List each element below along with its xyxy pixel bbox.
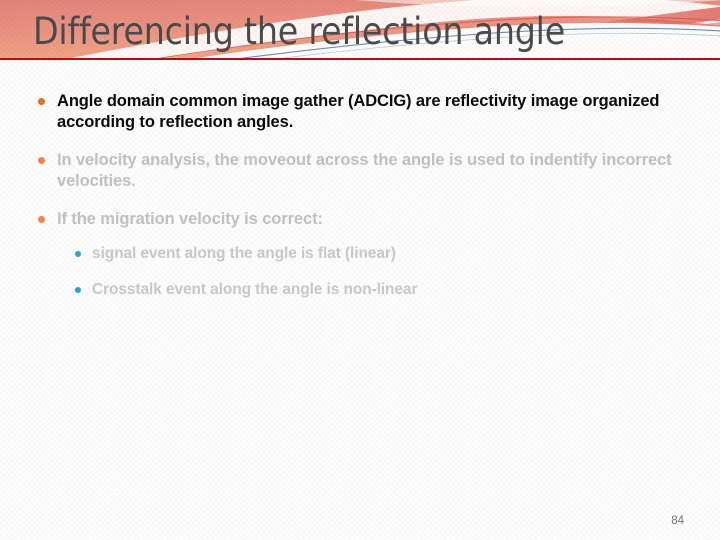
bullet-item-2: In velocity analysis, the moveout across… [0,150,720,191]
teal-dot-icon [75,287,81,293]
title-underline-rule [0,58,720,60]
orange-dot-icon [38,98,45,105]
bullet-item-1-label: Angle domain common image gather (ADCIG)… [57,91,680,132]
teal-dot-icon [75,251,81,257]
slide-page-number: 84 [671,515,684,527]
sub-bullet-item-2: Crosstalk event along the angle is non-l… [0,280,720,300]
bullet-item-3: If the migration velocity is correct: [0,209,720,230]
sub-bullet-item-2-label: Crosstalk event along the angle is non-l… [92,280,417,300]
presentation-slide: Differencing the reflection angle Angle … [0,0,720,540]
orange-dot-icon [38,157,45,164]
sub-bullet-item-1-label: signal event along the angle is flat (li… [92,244,396,264]
slide-body: Angle domain common image gather (ADCIG)… [0,75,720,300]
sub-bullet-item-1: signal event along the angle is flat (li… [0,244,720,264]
bullet-item-3-label: If the migration velocity is correct: [57,209,323,230]
bullet-item-1: Angle domain common image gather (ADCIG)… [0,91,720,132]
slide-title: Differencing the reflection angle [33,10,565,53]
bullet-item-2-label: In velocity analysis, the moveout across… [57,150,680,191]
orange-dot-icon [38,216,45,223]
